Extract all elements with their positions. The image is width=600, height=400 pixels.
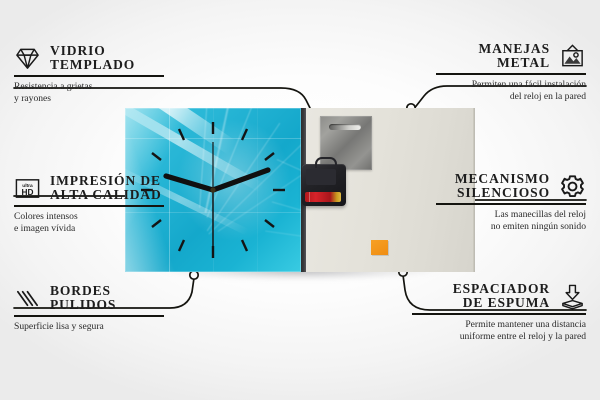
battery — [305, 192, 341, 202]
hour-hand — [166, 176, 213, 190]
svg-text:HD: HD — [22, 187, 34, 197]
feature-underline — [14, 75, 164, 77]
feature-title-line2: DE ESPUMA — [453, 296, 550, 310]
feature-title-line2: METAL — [478, 56, 550, 70]
bracket-keyhole-slot — [329, 124, 361, 130]
clock-hands — [166, 142, 268, 254]
feature-impresion-alta-calidad[interactable]: ultra HD IMPRESIÓN DE ALTA CALIDAD Color… — [14, 174, 164, 236]
feature-title-line1: MANEJAS — [478, 42, 550, 56]
infographic-canvas: VIDRIO TEMPLADO Resistencia a grietas y … — [0, 0, 600, 400]
gear-icon — [559, 173, 586, 200]
feature-bordes-pulidos[interactable]: BORDES PULIDOS Superficie lisa y segura — [14, 284, 164, 333]
feature-espaciador-espuma[interactable]: ESPACIADOR DE ESPUMA Permite mantener un… — [412, 282, 586, 344]
feature-title-line2: PULIDOS — [50, 298, 116, 312]
feature-underline — [436, 73, 586, 75]
quartz-mechanism-box — [302, 164, 346, 206]
feature-title-line2: SILENCIOSO — [455, 186, 550, 200]
mechanism-hanger-loop — [315, 157, 337, 168]
feature-subtitle: Superficie lisa y segura — [14, 321, 164, 333]
clock-center-cap — [210, 187, 215, 192]
feature-title-line1: BORDES — [50, 284, 116, 298]
foam-spacer-pad — [371, 240, 388, 255]
foam-spacer-icon — [559, 283, 586, 310]
feature-underline — [436, 203, 586, 205]
ultra-hd-icon: ultra HD — [14, 175, 41, 202]
feature-vidrio-templado[interactable]: VIDRIO TEMPLADO Resistencia a grietas y … — [14, 44, 164, 106]
hanging-frame-icon — [559, 43, 586, 70]
feature-subtitle: Resistencia a grietas y rayones — [14, 81, 164, 106]
feature-underline — [14, 315, 164, 317]
feature-title-line1: VIDRIO — [50, 44, 135, 58]
diamond-icon — [14, 45, 41, 72]
feature-subtitle: Las manecillas del reloj no emiten ningú… — [436, 209, 586, 234]
battery-stripe — [309, 192, 310, 202]
feature-title-line1: MECANISMO — [455, 172, 550, 186]
feature-title-line1: IMPRESIÓN DE — [50, 174, 162, 188]
feature-title-line1: ESPACIADOR — [453, 282, 550, 296]
mechanism-body — [306, 169, 336, 185]
product-image — [125, 108, 475, 272]
feature-title-line2: TEMPLADO — [50, 58, 135, 72]
feature-mecanismo-silencioso[interactable]: MECANISMO SILENCIOSO Las manecillas del … — [436, 172, 586, 234]
feature-subtitle: Permite mantener una distancia uniforme … — [412, 319, 586, 344]
minute-hand — [213, 170, 268, 190]
feature-manejas-metal[interactable]: MANEJAS METAL Permiten una fácil instala… — [436, 42, 586, 104]
feature-subtitle: Colores intensos e imagen vívida — [14, 211, 164, 236]
feature-title-line2: ALTA CALIDAD — [50, 188, 162, 202]
feature-underline — [14, 205, 164, 207]
feature-subtitle: Permiten una fácil instalación del reloj… — [436, 79, 586, 104]
feature-underline — [412, 313, 586, 315]
polished-edges-icon — [14, 285, 41, 312]
